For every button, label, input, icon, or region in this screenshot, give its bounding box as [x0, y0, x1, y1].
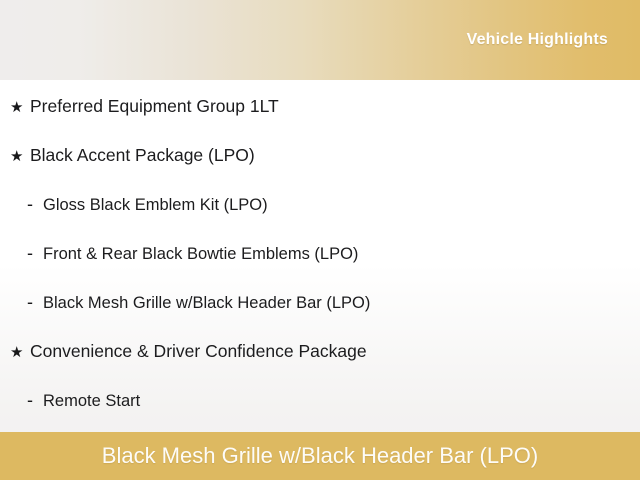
highlight-item: ★Convenience & Driver Confidence Package: [0, 342, 640, 391]
page-title: Vehicle Highlights: [467, 32, 608, 48]
star-bullet-icon: ★: [10, 345, 30, 360]
star-bullet-icon: ★: [10, 100, 30, 115]
highlight-item-label: Remote Start: [38, 392, 140, 410]
highlight-item-label: Black Mesh Grille w/Black Header Bar (LP…: [38, 294, 370, 312]
slide-footer: Black Mesh Grille w/Black Header Bar (LP…: [0, 432, 640, 480]
highlight-sub-item: -Front & Rear Black Bowtie Emblems (LPO): [0, 244, 640, 293]
highlights-list: ★Preferred Equipment Group 1LT★Black Acc…: [0, 80, 640, 432]
footer-caption: Black Mesh Grille w/Black Header Bar (LP…: [102, 445, 538, 467]
slide-header: Vehicle Highlights: [0, 0, 640, 80]
highlight-item-label: Front & Rear Black Bowtie Emblems (LPO): [38, 245, 358, 263]
highlight-item: ★Preferred Equipment Group 1LT: [0, 80, 640, 146]
dash-bullet-icon: -: [27, 391, 38, 409]
highlight-item-label: Black Accent Package (LPO): [30, 146, 255, 165]
dash-bullet-icon: -: [27, 244, 38, 262]
highlight-item-label: Preferred Equipment Group 1LT: [30, 97, 279, 116]
highlight-sub-item: -Remote Start: [0, 391, 640, 432]
star-bullet-icon: ★: [10, 149, 30, 164]
vehicle-highlights-slide: Vehicle Highlights ★Preferred Equipment …: [0, 0, 640, 480]
dash-bullet-icon: -: [27, 195, 38, 213]
highlight-item-label: Gloss Black Emblem Kit (LPO): [38, 196, 268, 214]
dash-bullet-icon: -: [27, 293, 38, 311]
highlight-item-label: Convenience & Driver Confidence Package: [30, 342, 367, 361]
highlight-item: ★Black Accent Package (LPO): [0, 146, 640, 195]
highlight-sub-item: -Black Mesh Grille w/Black Header Bar (L…: [0, 293, 640, 342]
highlight-sub-item: -Gloss Black Emblem Kit (LPO): [0, 195, 640, 244]
